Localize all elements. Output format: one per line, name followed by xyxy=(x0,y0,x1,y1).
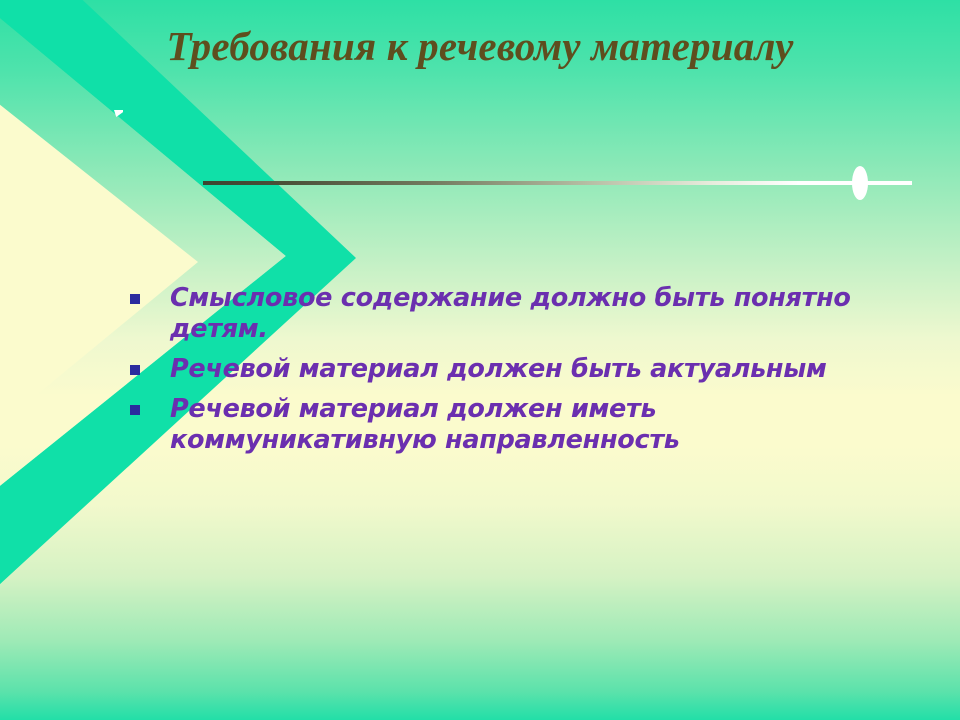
bullet-text: Речевой материал должен иметь коммуникат… xyxy=(170,394,680,455)
bullet-text: Речевой материал должен быть актуальным xyxy=(170,354,827,384)
slide-title: Требования к речевому материалу xyxy=(0,24,960,69)
chevron-edge-artifact xyxy=(114,110,123,117)
square-bullet-icon xyxy=(130,405,140,415)
square-bullet-icon xyxy=(130,365,140,375)
square-bullet-icon xyxy=(130,294,140,304)
list-item: Речевой материал должен иметь коммуникат… xyxy=(128,394,888,456)
horizontal-divider-line xyxy=(203,181,912,185)
white-oval-marker xyxy=(852,166,868,200)
bullet-text: Смысловое содержание должно быть понятно… xyxy=(170,283,851,344)
list-item: Смысловое содержание должно быть понятно… xyxy=(128,283,888,345)
bullet-list: Смысловое содержание должно быть понятно… xyxy=(128,283,888,465)
presentation-slide: Требования к речевому материалу Смыслово… xyxy=(0,0,960,720)
list-item: Речевой материал должен быть актуальным xyxy=(128,354,888,385)
